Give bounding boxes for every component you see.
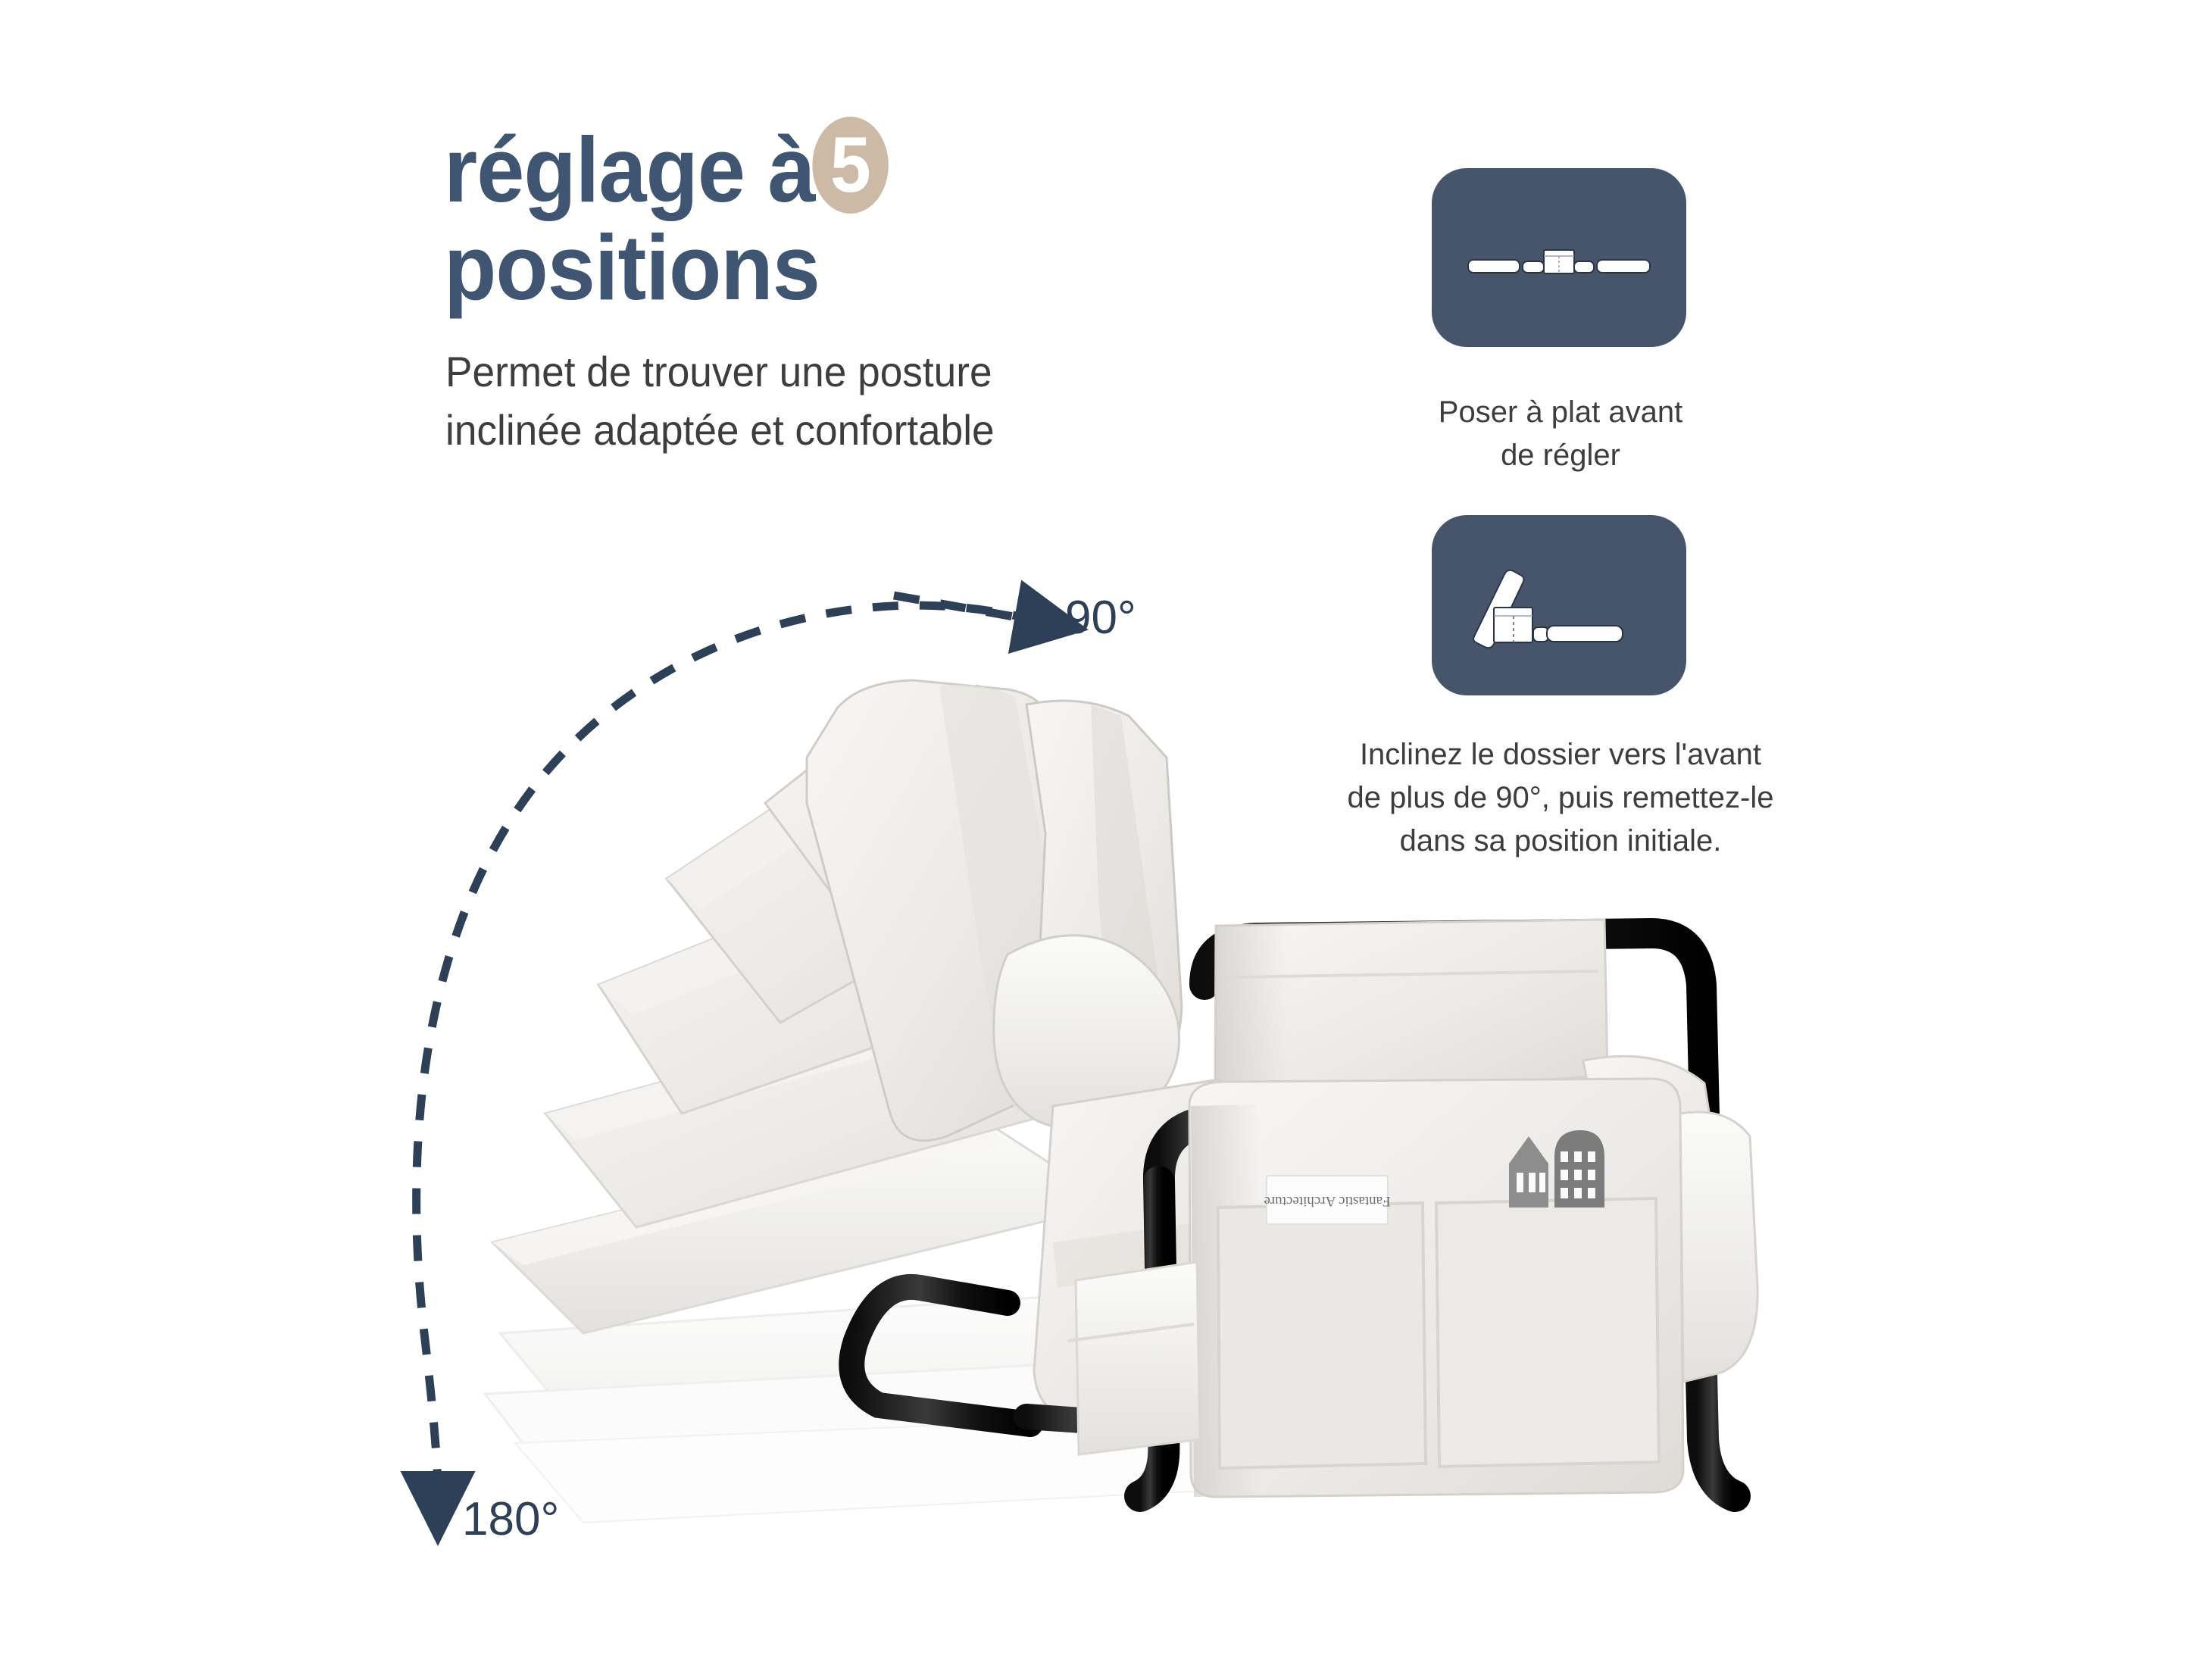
instruction-caption-lay-flat: Poser à plat avant de régler [1348,391,1773,477]
instruction-caption-tilt-backrest: Inclinez le dossier vers l'avant de plus… [1303,733,1818,862]
headline-line-2: positions [444,221,1254,314]
subtitle-line-1: Permet de trouver une posture [445,342,995,401]
subtitle-block: Permet de trouver une posture inclinée a… [445,342,995,460]
caption-1-line-1: Poser à plat avant [1348,391,1773,434]
caption-1-line-2: de régler [1348,434,1773,477]
headline-text-secondary: positions [444,221,820,314]
caption-2-line-2: de plus de 90°, puis remettez-le [1303,776,1818,820]
svg-text:Fantastic Architecture: Fantastic Architecture [1264,1193,1390,1209]
sofa-backrest-tilted-forward-icon [1432,515,1686,695]
headline-text-primary: réglage à [444,123,815,216]
angle-label-90: 90° [1065,591,1136,645]
infographic-canvas: Fantastic Architecture [0,0,2212,1659]
instruction-card-tilt-backrest [1432,515,1686,695]
headline-block: réglage à 5 positions [444,121,1315,314]
positions-count-badge: 5 [812,117,888,214]
house-ornament-tall [1554,1130,1604,1208]
instruction-card-lay-flat [1432,168,1686,347]
subtitle-line-2: inclinée adaptée et confortable [445,401,995,459]
sofa-flat-icon [1432,168,1686,347]
headline-line-1: réglage à 5 [444,121,1254,218]
caption-2-line-3: dans sa position initiale. [1303,820,1818,863]
organizer-pocket-left: Fantastic Architecture [1218,1176,1426,1468]
caption-2-line-1: Inclinez le dossier vers l'avant [1303,733,1818,776]
angle-label-180: 180° [462,1492,559,1546]
